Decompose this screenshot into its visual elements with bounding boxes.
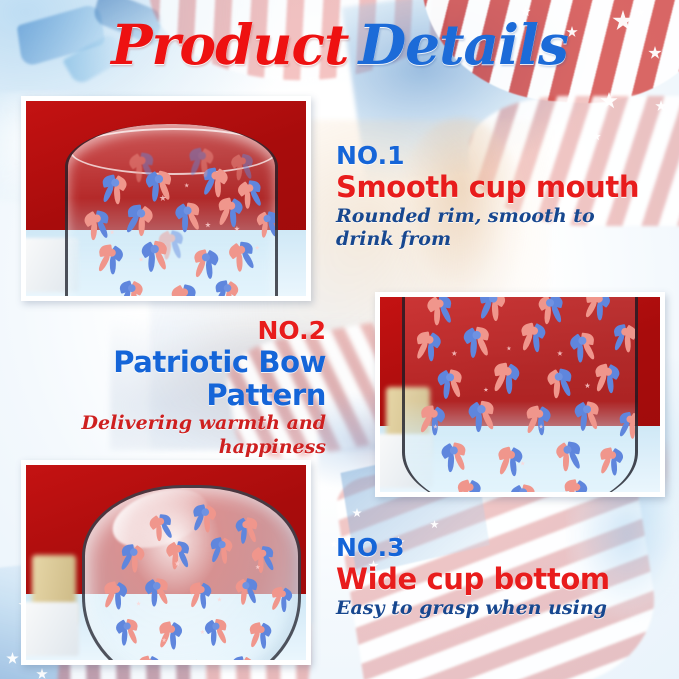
ribbon-bow-icon <box>208 536 238 566</box>
ribbon-bow-icon <box>164 539 197 572</box>
feature-headline-3: Wide cup bottom <box>336 563 656 595</box>
ribbon-bow-icon <box>426 297 462 328</box>
ribbon-bow-icon <box>122 202 161 241</box>
ribbon-bow-icon <box>158 228 191 261</box>
ribbon-bow-icon <box>416 402 452 438</box>
feature-number-1: NO.1 <box>336 143 656 169</box>
ribbon-bow-icon <box>489 361 526 398</box>
ribbon-bow-icon <box>611 409 638 441</box>
ribbon-bow-icon <box>412 329 448 365</box>
ribbon-bow-icon <box>147 510 180 543</box>
ribbon-bow-icon <box>462 324 498 360</box>
ribbon-bow-icon <box>581 297 617 324</box>
ribbon-bow-icon <box>268 585 298 615</box>
ribbon-bow-icon <box>550 440 586 476</box>
ribbon-bow-icon <box>170 282 204 296</box>
glass-bottom-closeup <box>82 485 301 661</box>
ribbon-bow-icon <box>606 321 638 354</box>
ribbon-bow-icon <box>156 620 189 653</box>
star-icon <box>506 346 511 351</box>
ribbon-bow-icon <box>94 242 130 278</box>
page-title-word-details: Details <box>358 12 567 77</box>
ribbon-bow-icon <box>592 362 626 396</box>
ribbon-bow-icon <box>466 397 503 434</box>
ribbon-bow-icon <box>101 579 134 612</box>
ribbon-bow-icon <box>226 238 263 275</box>
ribbon-bow-icon <box>541 366 576 401</box>
feature-number-3: NO.3 <box>336 535 656 561</box>
star-icon <box>217 597 222 602</box>
ribbon-bow-icon <box>211 278 245 296</box>
ribbon-bow-icon <box>186 146 220 180</box>
page-title: ProductDetails <box>0 16 679 74</box>
ribbon-bow-icon <box>597 446 630 479</box>
feature-subtitle-2: Delivering warmth and happiness <box>4 412 326 460</box>
feature-photo-3 <box>21 460 311 665</box>
feature-subtitle-3: Easy to grasp when using <box>336 597 656 621</box>
ribbon-bow-icon <box>186 247 220 281</box>
ribbon-bow-icon <box>117 280 148 296</box>
ribbon-bow-icon <box>518 321 552 355</box>
ribbon-bow-icon <box>250 543 283 576</box>
ribbon-bow-icon <box>573 399 607 433</box>
ribbon-bow-icon <box>522 403 557 438</box>
feature-block-1: NO.1 Smooth cup mouth Rounded rim, smoot… <box>336 143 656 252</box>
feature-headline-2: Patriotic Bow Pattern <box>4 346 326 411</box>
ribbon-bow-icon <box>117 542 152 577</box>
ribbon-bow-icon <box>440 440 475 475</box>
star-icon <box>584 383 590 389</box>
feature-photo-1 <box>21 96 311 301</box>
glass-body-closeup <box>402 297 638 492</box>
ribbon-bow-icon <box>246 621 276 651</box>
page-title-word-product: Product <box>111 12 348 77</box>
ribbon-bow-icon <box>190 502 223 535</box>
glass-rim-closeup <box>65 124 278 296</box>
product-details-infographic: ProductDetails <box>0 0 679 679</box>
ribbon-bow-icon <box>114 617 145 648</box>
ribbon-bow-icon <box>568 329 604 365</box>
ribbon-bow-icon <box>509 482 543 492</box>
ribbon-bow-icon <box>476 297 512 324</box>
ribbon-bow-icon <box>187 581 217 611</box>
ribbon-bow-icon <box>455 479 486 492</box>
star-icon <box>483 387 488 392</box>
feature-number-2: NO.2 <box>4 318 326 344</box>
ribbon-bow-icon <box>495 445 529 479</box>
ribbon-bow-icon <box>137 654 166 660</box>
feature-block-2: NO.2 Patriotic Bow Pattern Delivering wa… <box>4 318 326 460</box>
ribbon-bow-icon <box>143 575 177 609</box>
star-icon <box>136 601 141 606</box>
ribbon-bow-icon <box>215 196 250 231</box>
ribbon-bow-icon <box>560 477 594 492</box>
feature-block-3: NO.3 Wide cup bottom Easy to grasp when … <box>336 535 656 620</box>
photo-prop-box <box>26 602 79 657</box>
ribbon-bow-icon <box>203 616 235 648</box>
star-icon <box>184 183 189 188</box>
ribbon-bow-icon <box>99 173 134 208</box>
ribbon-bow-icon <box>251 210 279 240</box>
feature-photo-2 <box>375 292 665 497</box>
ribbon-bow-icon <box>128 149 164 185</box>
star-icon <box>451 350 457 356</box>
ribbon-bow-icon <box>183 658 213 660</box>
ribbon-bow-icon <box>608 484 638 492</box>
feature-subtitle-1: Rounded rim, smooth to drink from <box>336 205 656 253</box>
ribbon-bow-icon <box>225 653 256 660</box>
star-icon <box>557 350 563 356</box>
feature-headline-1: Smooth cup mouth <box>336 171 656 203</box>
ribbon-bow-icon <box>229 576 259 606</box>
ribbon-bow-icon <box>436 367 470 401</box>
ribbon-bow-icon <box>82 208 117 243</box>
ribbon-bow-icon <box>230 151 260 181</box>
